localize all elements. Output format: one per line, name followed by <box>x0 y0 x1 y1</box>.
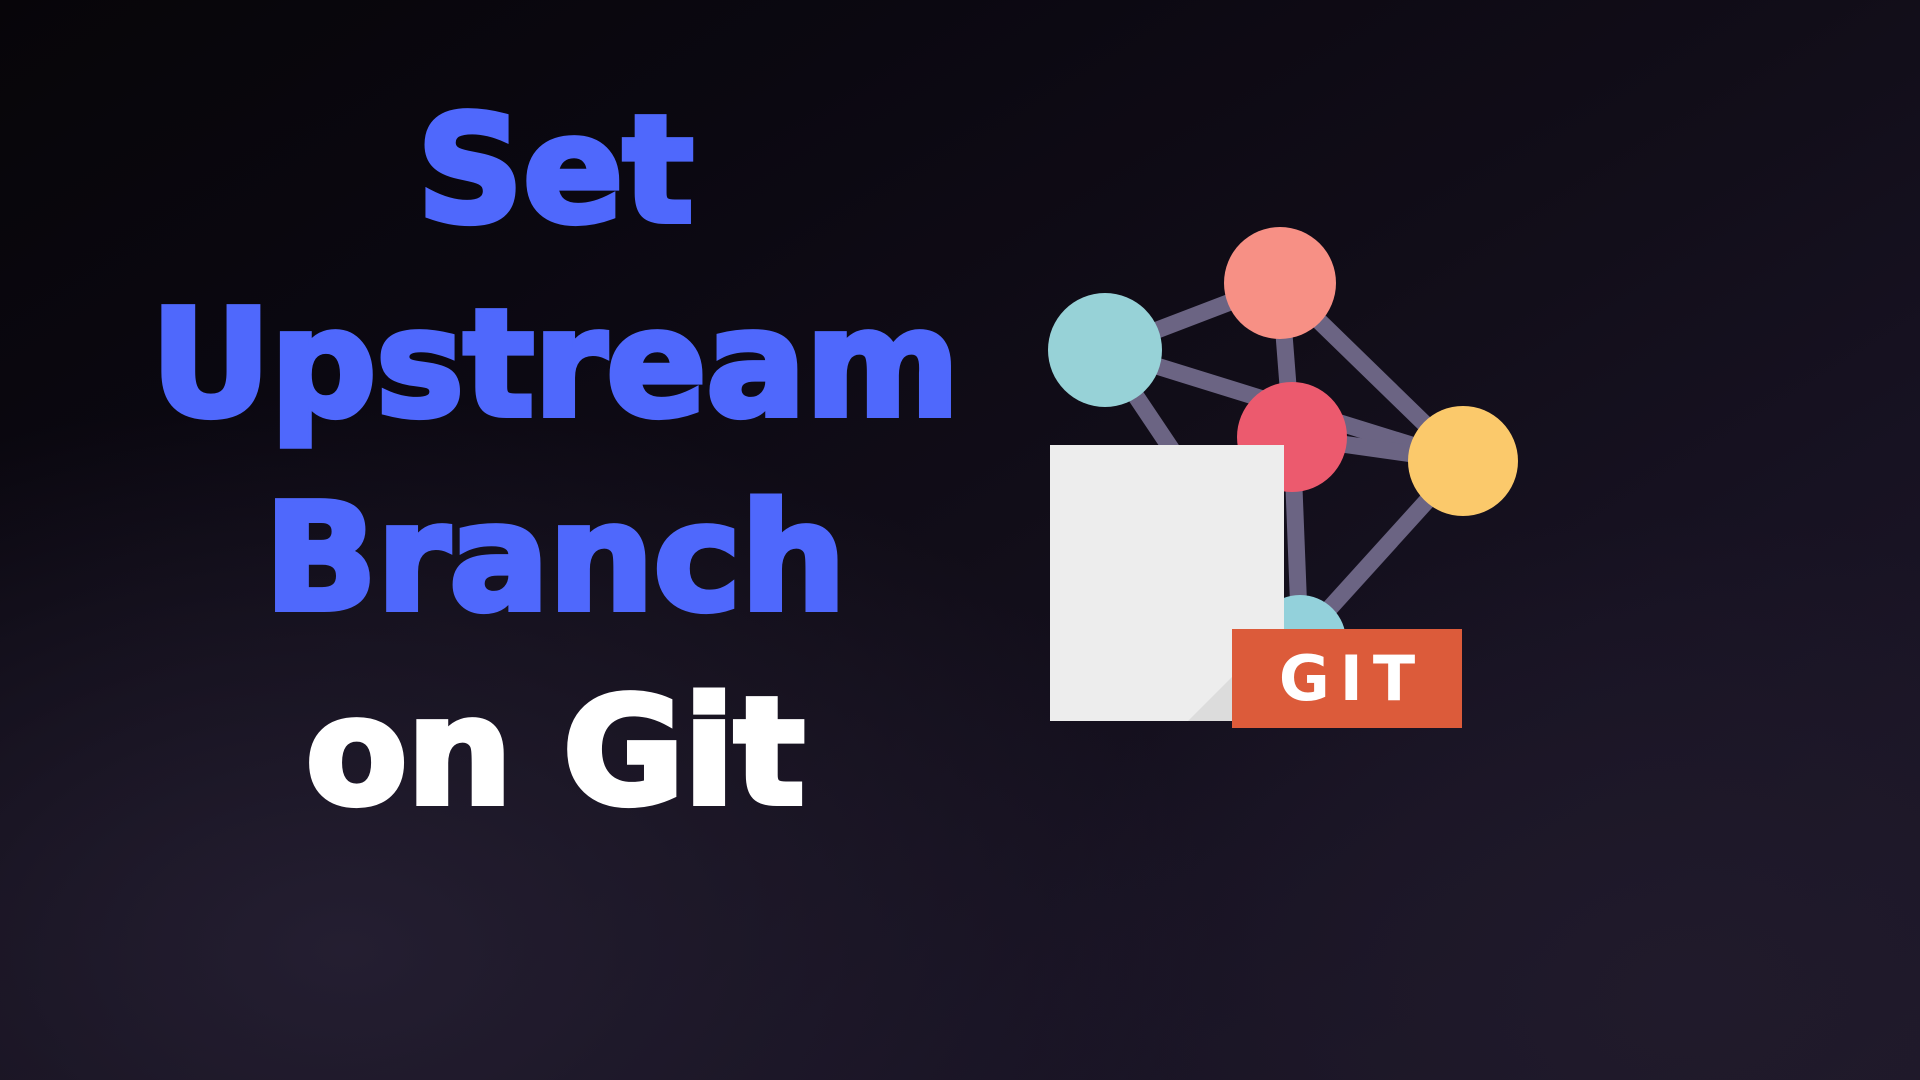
git-badge-label: GIT <box>1269 648 1425 710</box>
git-network-document-illustration <box>1210 255 1850 895</box>
headline-line-1: Set <box>0 96 1110 244</box>
headline-line-3: Branch <box>0 484 1110 632</box>
headline-line-4: on Git <box>0 678 1110 826</box>
thumbnail-canvas: Set Upstream Branch on Git <box>0 0 1920 1080</box>
node-teal-top <box>1048 293 1162 407</box>
page-title: Set Upstream Branch on Git <box>0 96 1110 826</box>
network-nodes-front <box>1408 406 1518 516</box>
git-badge: GIT <box>1232 629 1462 728</box>
headline-line-2: Upstream <box>0 290 1110 438</box>
node-salmon <box>1224 227 1336 339</box>
node-yellow <box>1408 406 1518 516</box>
